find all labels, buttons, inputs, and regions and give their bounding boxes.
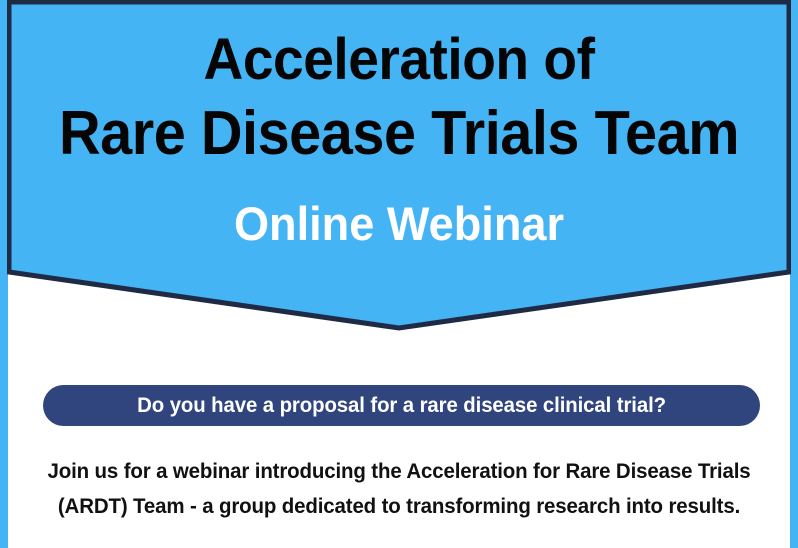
question-callout-pill: Do you have a proposal for a rare diseas…: [43, 385, 760, 426]
body-copy: Join us for a webinar introducing the Ac…: [38, 454, 760, 524]
header-banner: Acceleration of Rare Disease Trials Team…: [7, 0, 791, 332]
right-accent-stripe: [790, 0, 798, 548]
body-copy-line-2: (ARDT) Team - a group dedicated to trans…: [47, 489, 751, 524]
body-copy-line-1: Join us for a webinar introducing the Ac…: [47, 454, 751, 489]
banner-subtitle: Online Webinar: [23, 199, 776, 248]
webinar-poster: Acceleration of Rare Disease Trials Team…: [0, 0, 798, 548]
banner-title-line-1: Acceleration of: [27, 30, 772, 90]
banner-title-line-2: Rare Disease Trials Team: [34, 102, 763, 166]
question-callout-text: Do you have a proposal for a rare diseas…: [137, 394, 666, 418]
banner-text-block: Acceleration of Rare Disease Trials Team…: [7, 0, 791, 290]
